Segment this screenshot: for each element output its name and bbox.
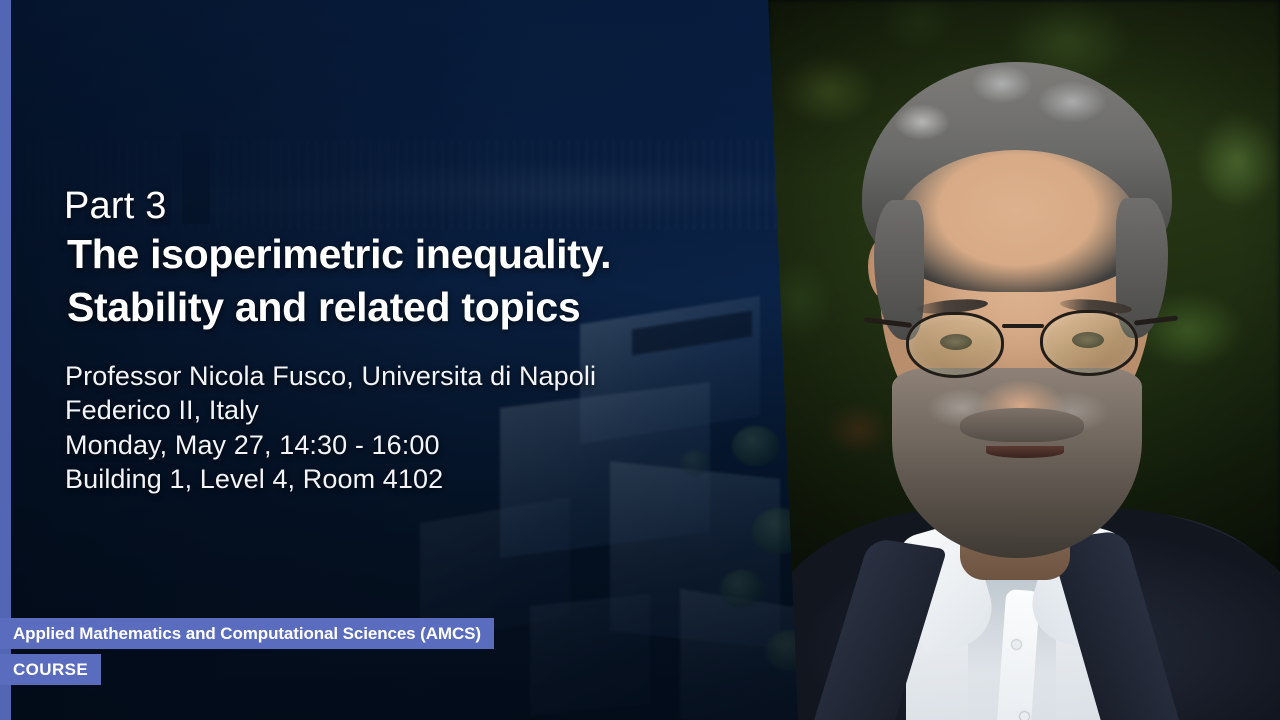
part-label: Part 3 (64, 186, 764, 226)
shirt-button (1012, 640, 1021, 649)
lecture-location: Building 1, Level 4, Room 4102 (65, 462, 764, 496)
program-banner: Applied Mathematics and Computational Sc… (0, 618, 494, 649)
moustache (960, 408, 1084, 442)
glasses-lens-right (1040, 310, 1138, 376)
lecture-announcement-slide: Part 3 The isoperimetric inequality. Sta… (0, 0, 1280, 720)
lecture-details: Professor Nicola Fusco, Universita di Na… (65, 359, 764, 496)
event-type-banner: COURSE (0, 654, 101, 685)
glasses-bridge (1002, 324, 1044, 328)
speaker-affiliation-line: Federico II, Italy (65, 393, 764, 427)
mouth (986, 446, 1064, 458)
shirt-button (1020, 712, 1029, 720)
program-banner-label: Applied Mathematics and Computational Sc… (13, 624, 481, 644)
forehead (892, 150, 1142, 320)
lecture-datetime: Monday, May 27, 14:30 - 16:00 (65, 428, 764, 462)
speaker-name-line: Professor Nicola Fusco, Universita di Na… (65, 359, 764, 393)
lecture-title-line-2: Stability and related topics (67, 281, 764, 333)
event-type-label: COURSE (13, 660, 88, 680)
glasses-lens-left (906, 312, 1004, 378)
title-text-block: Part 3 The isoperimetric inequality. Sta… (64, 186, 764, 496)
left-accent-strip (0, 0, 11, 720)
lecture-title-line-1: The isoperimetric inequality. (67, 228, 764, 280)
